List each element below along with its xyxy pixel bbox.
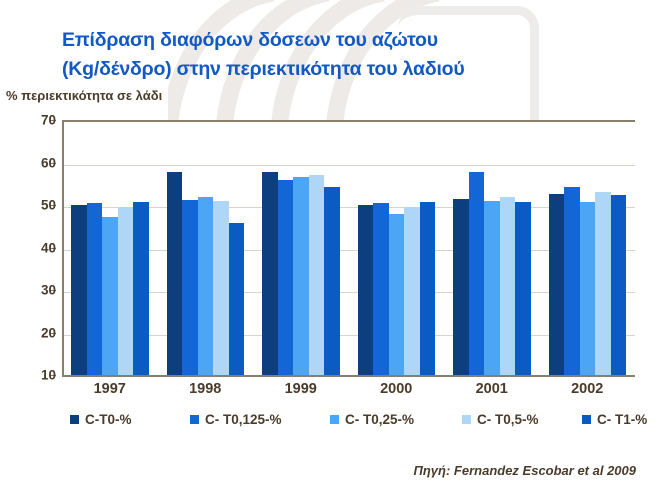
bar-group-2000 <box>349 120 445 375</box>
bar <box>564 187 580 375</box>
legend-label: C- T0,5-% <box>477 412 539 427</box>
y-axis-tick-labels: 10203040506070 <box>0 120 56 375</box>
legend-swatch-icon <box>462 415 471 424</box>
chart-title: Επίδραση διαφόρων δόσεων του αζώτου (Kg/… <box>62 26 622 84</box>
bar-group-1998 <box>158 120 254 375</box>
x-axis-line <box>62 375 635 377</box>
x-axis-tick-labels: 199719981999200020012002 <box>62 381 635 403</box>
bar <box>420 202 436 375</box>
bar <box>580 202 596 375</box>
legend-item-4[interactable]: C- T1-% <box>582 412 647 427</box>
legend-swatch-icon <box>190 415 199 424</box>
source-note: Πηγή: Fernandez Escobar et al 2009 <box>414 463 636 478</box>
bar <box>309 175 325 375</box>
bar <box>515 202 531 375</box>
bar <box>133 202 149 375</box>
x-axis-tick-label-2001: 2001 <box>476 381 508 397</box>
x-axis-tick-label-2002: 2002 <box>571 381 603 397</box>
x-axis-tick-label-1997: 1997 <box>94 381 126 397</box>
bar <box>182 200 198 375</box>
bar <box>611 195 627 375</box>
bar <box>595 192 611 375</box>
legend-label: C- T0,125-% <box>205 412 282 427</box>
bar-group-2001 <box>444 120 540 375</box>
legend-swatch-icon <box>582 415 591 424</box>
bar <box>213 201 229 375</box>
y-axis-tick-label: 10 <box>8 368 56 383</box>
bar <box>549 194 565 375</box>
legend-label: C- T0,25-% <box>345 412 414 427</box>
bar <box>278 180 294 376</box>
bar <box>102 217 118 375</box>
legend-item-1[interactable]: C- T0,125-% <box>190 412 282 427</box>
bar-group-1999 <box>253 120 349 375</box>
chart-legend: C-T0-%C- T0,125-%C- T0,25-%C- T0,5-%C- T… <box>62 412 642 434</box>
legend-item-3[interactable]: C- T0,5-% <box>462 412 539 427</box>
bar <box>373 203 389 375</box>
bar <box>229 223 245 375</box>
y-axis-tick-label: 60 <box>8 155 56 170</box>
chart-title-line-2: (Kg/δένδρο) στην περιεκτικότητα του λαδι… <box>62 55 622 84</box>
y-axis-title: % περιεκτικότητα σε λάδι <box>6 88 162 103</box>
bar <box>484 201 500 375</box>
y-axis-tick-label: 50 <box>8 198 56 213</box>
bar <box>469 172 485 375</box>
bars-layer <box>62 120 635 375</box>
x-axis-tick-label-1999: 1999 <box>285 381 317 397</box>
y-axis-tick-label: 30 <box>8 283 56 298</box>
bar <box>453 199 469 375</box>
bar <box>358 205 374 375</box>
bar <box>198 197 214 376</box>
bar <box>262 172 278 375</box>
legend-swatch-icon <box>330 415 339 424</box>
legend-label: C-T0-% <box>85 412 132 427</box>
bar-group-2002 <box>540 120 636 375</box>
bar <box>404 207 420 375</box>
legend-item-2[interactable]: C- T0,25-% <box>330 412 414 427</box>
x-axis-tick-label-2000: 2000 <box>380 381 412 397</box>
bar <box>71 205 87 375</box>
bar <box>118 207 134 375</box>
bar <box>500 197 516 376</box>
bar <box>324 187 340 375</box>
bar <box>293 177 309 375</box>
legend-label: C- T1-% <box>597 412 647 427</box>
y-axis-tick-label: 70 <box>8 113 56 128</box>
y-axis-tick-label: 20 <box>8 325 56 340</box>
x-axis-tick-label-1998: 1998 <box>189 381 221 397</box>
legend-swatch-icon <box>70 415 79 424</box>
bar <box>389 214 405 375</box>
y-axis-tick-label: 40 <box>8 240 56 255</box>
chart-title-line-1: Επίδραση διαφόρων δόσεων του αζώτου <box>62 26 622 55</box>
bar-group-1997 <box>62 120 158 375</box>
bar <box>167 172 183 375</box>
legend-item-0[interactable]: C-T0-% <box>70 412 132 427</box>
bar <box>87 203 103 375</box>
